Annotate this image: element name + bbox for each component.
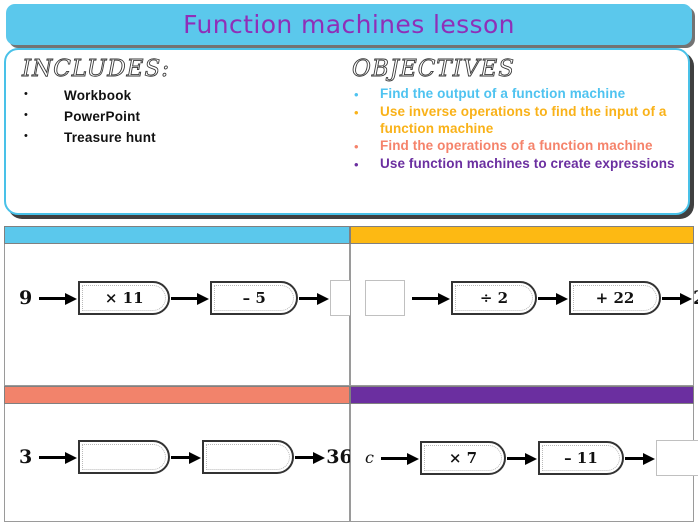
list-item: • Find the operations of a function mach… xyxy=(350,138,680,155)
function-machine-chain: 3 36 xyxy=(5,440,349,474)
objective-item-label: Find the operations of a function machin… xyxy=(380,138,653,155)
list-item: • Find the output of a function machine xyxy=(350,86,680,103)
arrow-icon xyxy=(381,453,419,463)
arrow-icon xyxy=(299,293,329,303)
bullet-icon: • xyxy=(354,104,368,121)
bullet-icon: • xyxy=(354,138,368,155)
objectives-heading: OBJECTIVES xyxy=(352,56,680,82)
bullet-icon: • xyxy=(24,128,38,144)
answer-box-output[interactable] xyxy=(656,440,698,476)
list-item: • PowerPoint xyxy=(20,107,346,126)
function-machine-chain: 9 × 11 – 5 xyxy=(5,280,349,316)
machine-operation: × 11 xyxy=(105,289,144,307)
function-machine-1[interactable]: ÷ 2 xyxy=(451,281,537,315)
list-item: • Treasure hunt xyxy=(20,128,346,147)
chain-input-value: 3 xyxy=(19,448,32,467)
machine-operation: – 11 xyxy=(564,449,598,467)
function-machine-2[interactable]: – 11 xyxy=(538,441,624,475)
objective-item-label: Use inverse operations to find the input… xyxy=(380,104,680,137)
includes-item-label: Workbook xyxy=(64,86,131,105)
quadrant-top-right: ÷ 2 + 22 25 xyxy=(350,226,694,386)
function-machine-chain: ÷ 2 + 22 25 xyxy=(351,280,693,316)
includes-list: • Workbook • PowerPoint • Treasure hunt xyxy=(20,86,346,147)
arrow-icon xyxy=(171,293,209,303)
includes-item-label: Treasure hunt xyxy=(64,128,156,147)
includes-heading: INCLUDES: xyxy=(22,56,346,82)
bullet-icon: • xyxy=(24,86,38,102)
objective-item-label: Use function machines to create expressi… xyxy=(380,156,675,173)
machine-operation: – 5 xyxy=(243,289,266,307)
chain-output-value: 36 xyxy=(326,448,352,467)
function-machine-grid: 9 × 11 – 5 ÷ 2 xyxy=(4,226,694,522)
function-machine-2[interactable]: – 5 xyxy=(210,281,298,315)
quadrant-header xyxy=(350,226,694,244)
quadrant-bottom-left: 3 36 xyxy=(4,386,350,522)
includes-column: INCLUDES: • Workbook • PowerPoint • Trea… xyxy=(6,50,346,213)
info-card: INCLUDES: • Workbook • PowerPoint • Trea… xyxy=(4,48,690,215)
arrow-icon xyxy=(39,293,77,303)
quadrant-body: c × 7 – 11 xyxy=(350,404,694,522)
arrow-icon xyxy=(412,293,450,303)
chain-input-value: 9 xyxy=(19,289,32,308)
arrow-icon xyxy=(295,452,325,462)
bullet-icon: • xyxy=(24,107,38,123)
arrow-icon xyxy=(171,452,201,462)
function-machine-1[interactable]: × 7 xyxy=(420,441,506,475)
function-machine-2[interactable]: + 22 xyxy=(569,281,661,315)
quadrant-header xyxy=(350,386,694,404)
answer-box-input[interactable] xyxy=(365,280,405,316)
machine-operation: × 7 xyxy=(449,449,477,467)
objective-item-label: Find the output of a function machine xyxy=(380,86,625,103)
function-machine-2[interactable] xyxy=(202,440,294,474)
function-machine-1[interactable]: × 11 xyxy=(78,281,170,315)
quadrant-header xyxy=(4,226,350,244)
objectives-list: • Find the output of a function machine … xyxy=(350,86,680,173)
quadrant-header xyxy=(4,386,350,404)
function-machine-chain: c × 7 – 11 xyxy=(351,440,693,476)
list-item: • Workbook xyxy=(20,86,346,105)
function-machine-1[interactable] xyxy=(78,440,170,474)
machine-operation: + 22 xyxy=(596,289,635,307)
arrow-icon xyxy=(507,453,537,463)
arrow-icon xyxy=(625,453,655,463)
quadrant-body: ÷ 2 + 22 25 xyxy=(350,244,694,386)
chain-input-value: c xyxy=(365,450,374,466)
arrow-icon xyxy=(538,293,568,303)
bullet-icon: • xyxy=(354,86,368,103)
objectives-column: OBJECTIVES • Find the output of a functi… xyxy=(346,50,688,213)
machine-operation: ÷ 2 xyxy=(480,289,508,307)
quadrant-top-left: 9 × 11 – 5 xyxy=(4,226,350,386)
list-item: • Use inverse operations to find the inp… xyxy=(350,104,680,137)
arrow-icon xyxy=(39,452,77,462)
quadrant-bottom-right: c × 7 – 11 xyxy=(350,386,694,522)
quadrant-body: 9 × 11 – 5 xyxy=(4,244,350,386)
title-banner: Function machines lesson xyxy=(6,4,692,45)
bullet-icon: • xyxy=(354,156,368,173)
arrow-icon xyxy=(662,293,692,303)
page-title: Function machines lesson xyxy=(183,10,515,39)
quadrant-body: 3 36 xyxy=(4,404,350,522)
includes-item-label: PowerPoint xyxy=(64,107,140,126)
chain-output-value: 25 xyxy=(693,289,698,308)
list-item: • Use function machines to create expres… xyxy=(350,156,680,173)
